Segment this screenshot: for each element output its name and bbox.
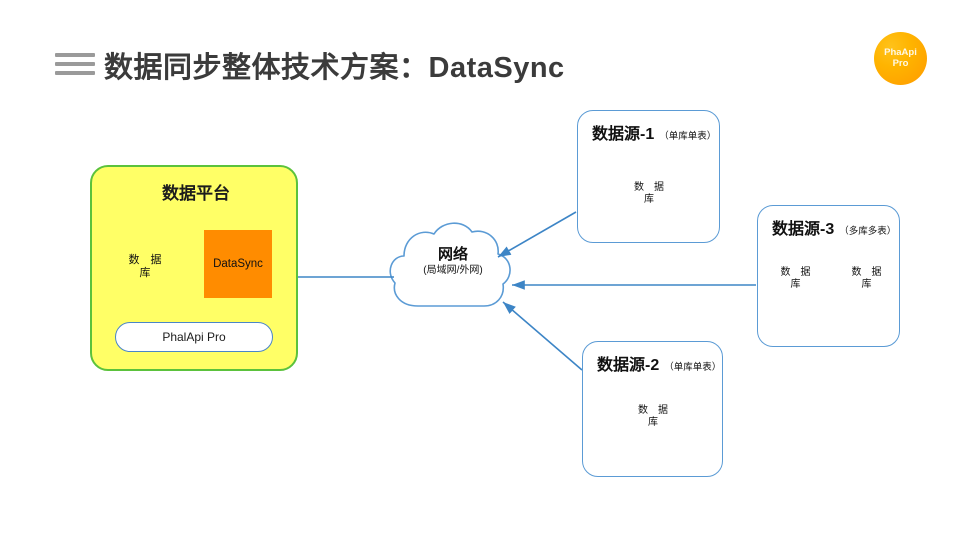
platform-database: 数 据 库	[110, 228, 180, 312]
data-source-3-database-a-label: 数 据 库	[772, 267, 819, 291]
data-source-2-name: 数据源-2	[597, 351, 659, 375]
diagram-canvas: 数据同步整体技术方案：DataSync PhaApi Pro	[0, 0, 960, 540]
page-title: 数据同步整体技术方案：DataSync	[104, 44, 565, 86]
datasync-label: DataSync	[213, 258, 263, 270]
data-source-3-note: （多库多表）	[839, 223, 896, 237]
platform-database-label: 数 据 库	[110, 254, 180, 281]
data-source-2-note: （单库单表）	[664, 359, 721, 373]
data-source-2-heading: 数据源-2 （单库单表）	[597, 351, 721, 375]
data-source-3-db-b-line1: 数 据	[843, 267, 890, 279]
hamburger-menu-icon[interactable]	[55, 53, 95, 75]
logo-line-1: PhaApi	[884, 48, 917, 59]
logo-line-2: Pro	[893, 59, 909, 70]
data-source-2-db-line1: 数 据	[631, 405, 675, 417]
brand-logo: PhaApi Pro	[874, 32, 927, 85]
hamburger-line	[55, 53, 95, 57]
data-platform-title: 数据平台	[92, 179, 300, 204]
hamburger-line	[55, 62, 95, 66]
data-source-3-db-a-line2: 库	[772, 279, 819, 291]
network-cloud-label: 网络 (局域网/外网)	[392, 246, 514, 277]
data-source-3-db-b-line2: 库	[843, 279, 890, 291]
data-source-1-database: 数 据 库	[627, 166, 671, 226]
platform-database-label-line1: 数 据	[110, 254, 180, 267]
network-title: 网络	[392, 246, 514, 264]
platform-database-label-line2: 库	[110, 267, 180, 280]
data-source-2-database: 数 据 库	[631, 389, 675, 449]
data-source-3-database-a: 数 据 库	[772, 251, 819, 312]
network-subtitle: (局域网/外网)	[392, 264, 514, 277]
data-source-1-database-label: 数 据 库	[627, 182, 671, 206]
data-source-1-note: （单库单表）	[659, 128, 716, 142]
data-source-1-heading: 数据源-1 （单库单表）	[592, 120, 716, 144]
data-source-2-database-label: 数 据 库	[631, 405, 675, 429]
data-source-1-db-line1: 数 据	[627, 182, 671, 194]
data-source-3-database-b: 数 据 库	[843, 251, 890, 312]
datasync-component[interactable]: DataSync	[204, 230, 272, 298]
phalapi-pro-pill[interactable]: PhalApi Pro	[115, 322, 273, 352]
page-header: 数据同步整体技术方案：DataSync PhaApi Pro	[0, 0, 960, 104]
flow-source2-to-network	[503, 302, 582, 370]
data-source-1-name: 数据源-1	[592, 120, 654, 144]
data-source-3-name: 数据源-3	[772, 215, 834, 239]
data-source-2-db-line2: 库	[631, 417, 675, 429]
data-source-1-db-line2: 库	[627, 194, 671, 206]
data-source-3-db-a-line1: 数 据	[772, 267, 819, 279]
network-cloud[interactable]: 网络 (局域网/外网)	[392, 228, 514, 312]
phalapi-pro-label: PhalApi Pro	[162, 330, 225, 344]
data-source-3-database-b-label: 数 据 库	[843, 267, 890, 291]
hamburger-line	[55, 71, 95, 75]
data-source-3-heading: 数据源-3 （多库多表）	[772, 215, 896, 239]
